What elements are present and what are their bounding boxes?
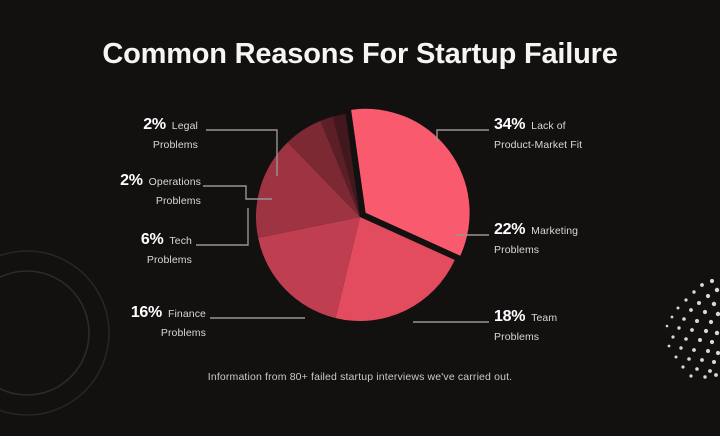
leader-line-legal-problems	[206, 130, 277, 176]
callout-team-problems[interactable]: 18% Team Problems	[494, 305, 557, 345]
callout-name-line1: Finance	[168, 307, 206, 322]
callout-percent: 2%	[143, 113, 166, 136]
infographic-canvas: Common Reasons For Startup Failure 2% Le…	[0, 0, 720, 436]
callout-name-line1: Team	[531, 311, 557, 326]
callout-name-line1: Tech	[169, 234, 192, 249]
callout-percent: 22%	[494, 218, 525, 241]
callout-name-line2: Problems	[494, 330, 557, 345]
callout-tech-problems[interactable]: 6% Tech Problems	[141, 228, 192, 268]
callout-name-line1: Legal	[172, 119, 198, 134]
callout-name-line2: Problems	[143, 138, 198, 153]
callout-name-line2: Problems	[120, 194, 201, 209]
leader-line-tech-problems	[196, 208, 248, 245]
callout-name-line2: Problems	[141, 253, 192, 268]
callout-marketing-problems[interactable]: 22% Marketing Problems	[494, 218, 578, 258]
callout-percent: 34%	[494, 113, 525, 136]
callout-legal-problems[interactable]: 2% Legal Problems	[143, 113, 198, 153]
callout-name-line2: Product-Market Fit	[494, 138, 582, 153]
callout-percent: 18%	[494, 305, 525, 328]
callout-lack-of-product-market-fit[interactable]: 34% Lack of Product-Market Fit	[494, 113, 582, 153]
callout-name-line1: Lack of	[531, 119, 566, 134]
callout-operations-problems[interactable]: 2% Operations Problems	[120, 169, 201, 209]
callout-percent: 6%	[141, 228, 164, 251]
callout-name-line1: Marketing	[531, 224, 578, 239]
callout-name-line2: Problems	[131, 326, 206, 341]
callout-percent: 16%	[131, 301, 162, 324]
callout-name-line2: Problems	[494, 243, 578, 258]
leader-line-lack-of-product-market-fit	[437, 130, 489, 142]
callout-percent: 2%	[120, 169, 143, 192]
callout-finance-problems[interactable]: 16% Finance Problems	[131, 301, 206, 341]
source-footnote: Information from 80+ failed startup inte…	[0, 371, 720, 383]
callout-name-line1: Operations	[149, 175, 201, 190]
